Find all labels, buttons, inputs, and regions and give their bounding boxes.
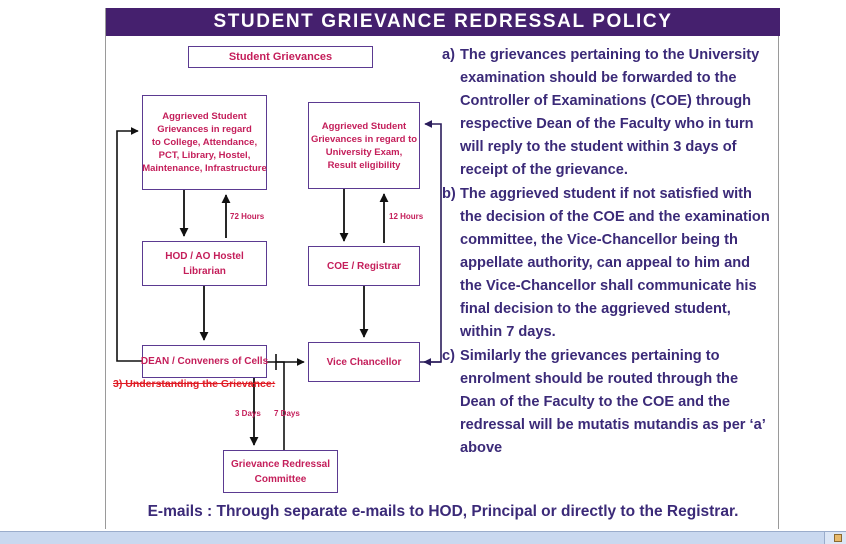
box-line: Grievances in regard <box>157 123 252 136</box>
window-resize-icon[interactable] <box>834 534 842 542</box>
box-vice-chancellor: Vice Chancellor <box>308 342 420 382</box>
box-line: Aggrieved Student <box>322 120 406 133</box>
policy-paragraph-c: c) Similarly the grievances pertaining t… <box>442 345 772 460</box>
box-dean-conveners-of-cells: DEAN / Conveners of Cells <box>142 345 267 378</box>
box-line: Student Grievances <box>229 51 332 64</box>
policy-body-a: The grievances pertaining to the Univers… <box>460 47 759 178</box>
box-line: Librarian <box>183 264 226 279</box>
box-line: Committee <box>255 472 307 487</box>
connector-label-12-hours: 12 Hours <box>389 212 423 221</box>
policy-body-b: The aggrieved student if not satisfied w… <box>460 186 770 340</box>
box-line: Grievance Redressal <box>231 457 330 472</box>
box-line: COE / Registrar <box>327 260 401 273</box>
box-line: PCT, Library, Hostel, <box>159 149 251 162</box>
screenshot-root: STUDENT GRIEVANCE REDRESSAL POLICY <box>0 0 846 544</box>
page-title: STUDENT GRIEVANCE REDRESSAL POLICY <box>213 11 672 33</box>
emails-footer-note: E-mails : Through separate e-mails to HO… <box>106 503 780 521</box>
box-grievance-redressal-committee: Grievance Redressal Committee <box>223 450 338 493</box>
connector-label-7-days: 7 Days <box>274 409 300 418</box>
policy-marker-c: c) <box>442 345 455 368</box>
flow-diagram: Student Grievances Aggrieved Student Gri… <box>106 36 454 501</box>
box-line: Result eligibility <box>328 159 401 172</box>
box-line: Grievances in regard to <box>311 133 417 146</box>
box-aggrieved-student-exam: Aggrieved Student Grievances in regard t… <box>308 102 420 189</box>
box-line: Vice Chancellor <box>327 356 402 369</box>
box-line: Maintenance, Infrastructure <box>142 162 267 175</box>
policy-marker-b: b) <box>442 183 456 206</box>
policy-paragraph-b: b) The aggrieved student if not satisfie… <box>442 183 772 344</box>
policy-body-c: Similarly the grievances pertaining to e… <box>460 348 765 456</box>
policy-text-column: a) The grievances pertaining to the Univ… <box>442 44 772 461</box>
connector-label-72-hours: 72 Hours <box>230 212 264 221</box>
box-line: Aggrieved Student <box>162 110 246 123</box>
connector-label-3-days: 3 Days <box>235 409 261 418</box>
bottom-bar-right-segment[interactable] <box>824 532 846 544</box>
policy-marker-a: a) <box>442 44 455 67</box>
box-aggrieved-student-college: Aggrieved Student Grievances in regard t… <box>142 95 267 190</box>
box-line: HOD / AO Hostel <box>165 249 244 264</box>
box-hod-ao-hostel-librarian: HOD / AO Hostel Librarian <box>142 241 267 286</box>
box-coe-registrar: COE / Registrar <box>308 246 420 286</box>
slide-canvas: STUDENT GRIEVANCE REDRESSAL POLICY <box>105 8 779 529</box>
understanding-grievance-note: 3) Understanding the Grievance: <box>113 378 275 390</box>
box-line: DEAN / Conveners of Cells <box>141 355 268 368</box>
policy-paragraph-a: a) The grievances pertaining to the Univ… <box>442 44 772 182</box>
bottom-status-bar <box>0 531 846 544</box>
box-line: University Exam, <box>326 146 403 159</box>
slide-title-bar: STUDENT GRIEVANCE REDRESSAL POLICY <box>106 8 780 36</box>
box-line: to College, Attendance, <box>152 136 257 149</box>
box-student-grievances: Student Grievances <box>188 46 373 68</box>
